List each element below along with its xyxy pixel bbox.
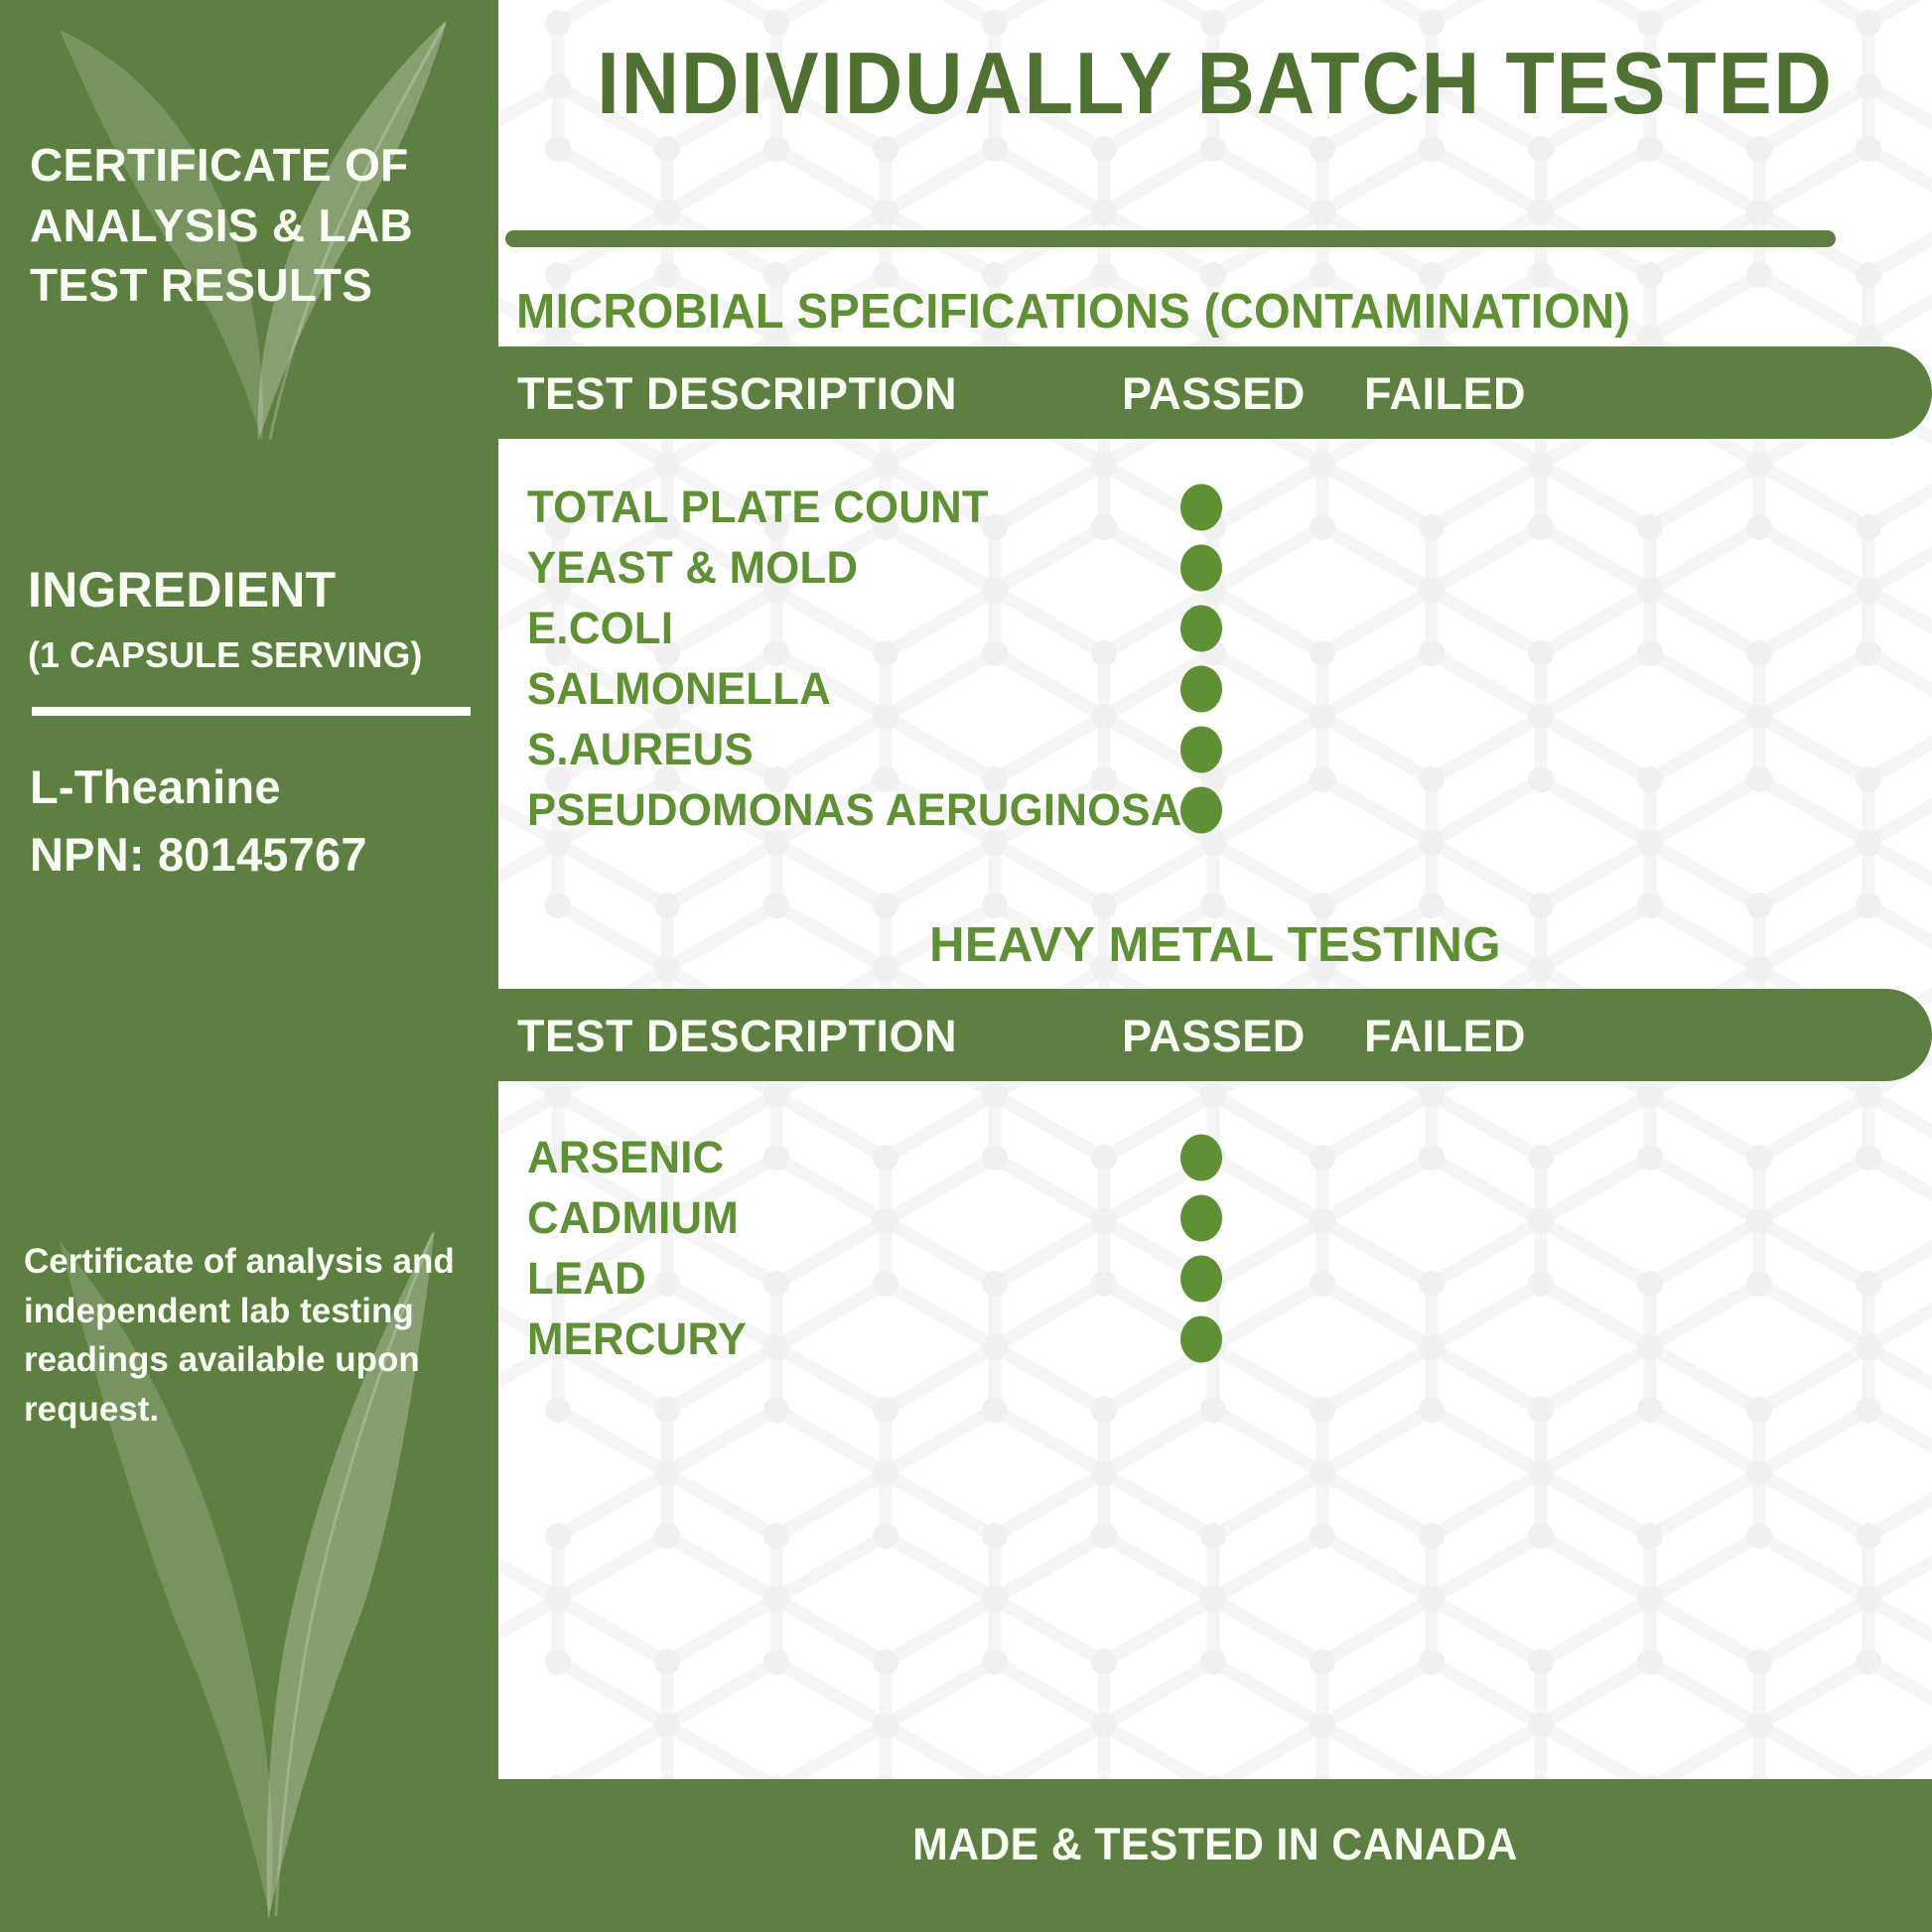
column-header-failed: FAILED xyxy=(1364,1011,1526,1062)
failed-cell xyxy=(1414,1255,1473,1302)
table-row: LEAD xyxy=(498,1248,1932,1309)
passed-cell xyxy=(1172,1315,1231,1362)
failed-cell xyxy=(1414,786,1473,833)
headline: INDIVIDUALLY BATCH TESTED xyxy=(556,22,1874,146)
sidebar: CERTIFICATE OF ANALYSIS & LAB TEST RESUL… xyxy=(0,0,498,1932)
section-title-heavy-metal: HEAVY METAL TESTING xyxy=(498,917,1932,973)
table-row: S.AUREUS xyxy=(498,719,1932,779)
pass-dot-icon xyxy=(1180,1255,1222,1302)
test-name: MERCURY xyxy=(527,1313,747,1365)
ingredient-heading: INGREDIENT xyxy=(28,562,494,618)
availability-footnote: Certificate of analysis and independent … xyxy=(24,1237,490,1435)
footer-text: MADE & TESTED IN CANADA xyxy=(534,1819,1896,1870)
pass-dot-icon xyxy=(1180,1194,1222,1241)
table-row: SALMONELLA xyxy=(498,658,1932,719)
test-name: PSEUDOMONAS AERUGINOSA xyxy=(527,784,1182,836)
pass-dot-icon xyxy=(1180,665,1222,712)
test-name: TOTAL PLATE COUNT xyxy=(527,482,989,533)
column-header-passed: PASSED xyxy=(1122,1011,1306,1062)
table-row: ARSENIC xyxy=(498,1127,1932,1187)
ingredient-name: L-Theanine xyxy=(30,755,486,821)
pass-dot-icon xyxy=(1180,726,1222,772)
test-name: LEAD xyxy=(527,1253,646,1305)
section-title-microbial: MICROBIAL SPECIFICATIONS (CONTAMINATION) xyxy=(516,284,1630,340)
failed-cell xyxy=(1414,1315,1473,1362)
table-row: CADMIUM xyxy=(498,1187,1932,1248)
sidebar-divider xyxy=(32,707,471,716)
serving-size-note: (1 CAPSULE SERVING) xyxy=(28,633,498,676)
passed-cell xyxy=(1172,1255,1231,1302)
test-name: SALMONELLA xyxy=(527,663,831,715)
coa-infographic: CERTIFICATE OF ANALYSIS & LAB TEST RESUL… xyxy=(0,0,1932,1932)
passed-cell xyxy=(1172,544,1231,591)
pass-dot-icon xyxy=(1180,605,1222,651)
test-name: ARSENIC xyxy=(527,1132,724,1183)
column-header-description: TEST DESCRIPTION xyxy=(517,368,957,420)
table-row: PSEUDOMONAS AERUGINOSA xyxy=(498,779,1932,840)
passed-cell xyxy=(1172,1134,1231,1180)
failed-cell xyxy=(1414,1194,1473,1241)
column-header-failed: FAILED xyxy=(1364,368,1526,420)
table-row: YEAST & MOLD xyxy=(498,537,1932,598)
failed-cell xyxy=(1414,726,1473,772)
pass-dot-icon xyxy=(1180,544,1222,591)
test-name: CADMIUM xyxy=(527,1192,739,1244)
failed-cell xyxy=(1414,483,1473,530)
passed-cell xyxy=(1172,1194,1231,1241)
column-header-passed: PASSED xyxy=(1122,368,1306,420)
main-panel: INDIVIDUALLY BATCH TESTED MICROBIAL SPEC… xyxy=(498,0,1932,1932)
passed-cell xyxy=(1172,726,1231,772)
page-title: CERTIFICATE OF ANALYSIS & LAB TEST RESUL… xyxy=(30,135,477,316)
passed-cell xyxy=(1172,605,1231,651)
pass-dot-icon xyxy=(1180,483,1222,530)
table-row: MERCURY xyxy=(498,1309,1932,1369)
microbial-table-header: TEST DESCRIPTION PASSED FAILED xyxy=(498,346,1932,439)
microbial-results-table: TOTAL PLATE COUNT YEAST & MOLD E.COLI SA… xyxy=(498,439,1932,915)
test-name: YEAST & MOLD xyxy=(527,542,858,594)
pass-dot-icon xyxy=(1180,786,1222,833)
pass-dot-icon xyxy=(1180,1315,1222,1362)
passed-cell xyxy=(1172,483,1231,530)
failed-cell xyxy=(1414,665,1473,712)
column-header-description: TEST DESCRIPTION xyxy=(517,1011,957,1062)
test-name: S.AUREUS xyxy=(527,724,754,775)
failed-cell xyxy=(1414,1134,1473,1180)
pass-dot-icon xyxy=(1180,1134,1222,1180)
failed-cell xyxy=(1414,544,1473,591)
table-row: TOTAL PLATE COUNT xyxy=(498,477,1932,537)
npn-number: NPN: 80145767 xyxy=(30,822,486,889)
table-row: E.COLI xyxy=(498,598,1932,658)
test-name: E.COLI xyxy=(527,603,673,654)
headline-underline xyxy=(505,230,1836,247)
heavy-metal-results-table: ARSENIC CADMIUM LEAD MERCURY xyxy=(498,1081,1932,1444)
passed-cell xyxy=(1172,665,1231,712)
passed-cell xyxy=(1172,786,1231,833)
failed-cell xyxy=(1414,605,1473,651)
heavy-metal-table-header: TEST DESCRIPTION PASSED FAILED xyxy=(498,989,1932,1081)
